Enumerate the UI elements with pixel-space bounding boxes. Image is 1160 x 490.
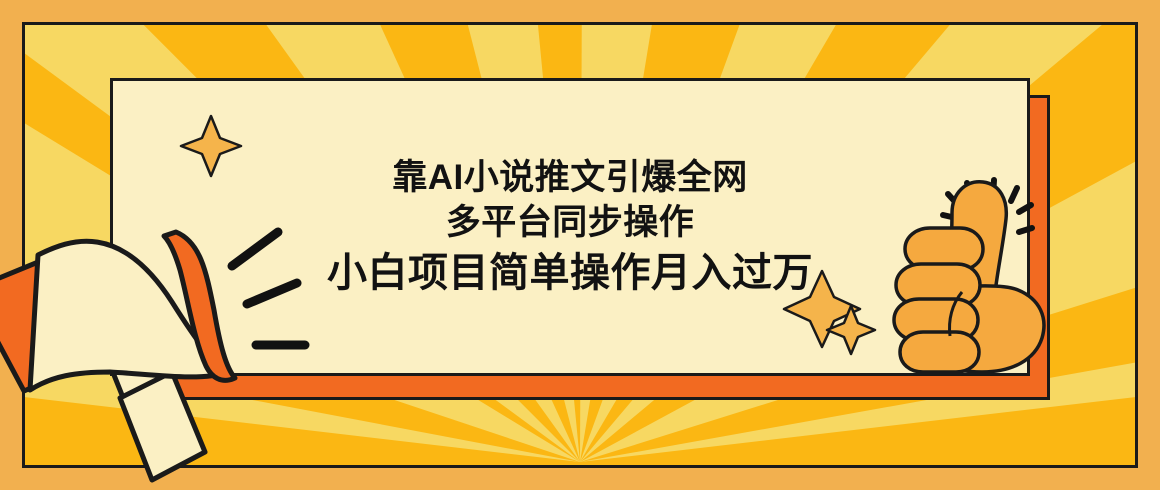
headline-card: [110, 78, 1030, 376]
promo-banner: 靠AI小说推文引爆全网 多平台同步操作 小白项目简单操作月入过万: [0, 0, 1160, 490]
